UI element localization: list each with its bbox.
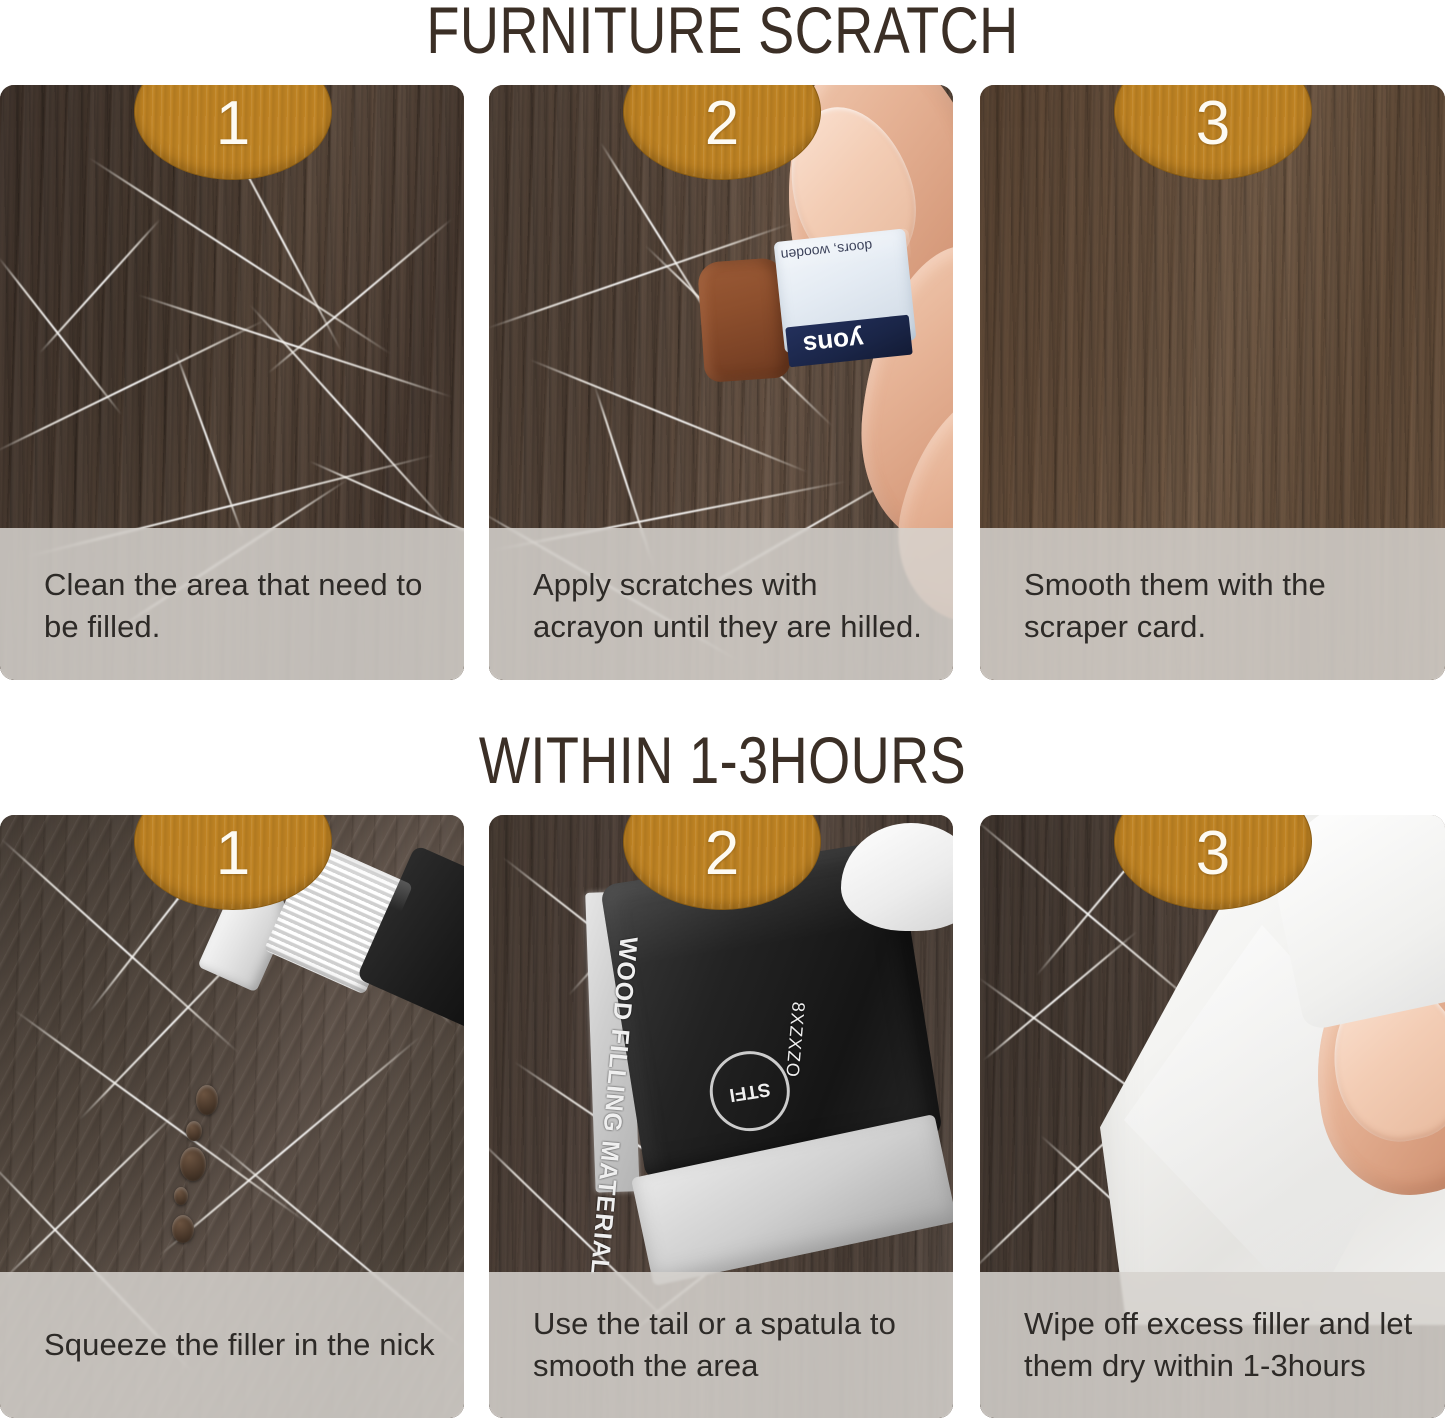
filler-drip	[180, 1147, 206, 1181]
step-panel-2-3: 3 Wipe off excess filler and let them dr…	[980, 815, 1445, 1418]
filler-drip	[174, 1187, 188, 1205]
caption-text: Apply scratches with acrayon until they …	[489, 560, 953, 648]
caption-band-2-3: Wipe off excess filler and let them dry …	[980, 1272, 1445, 1418]
brand-logo-text: STFI	[728, 1077, 772, 1105]
caption-text: Wipe off excess filler and let them dry …	[980, 1303, 1445, 1387]
instruction-sheet: FURNITURE SCRATCH	[0, 0, 1445, 1418]
filler-drip	[172, 1215, 194, 1243]
caption-band-1-3: Smooth them with the scraper card.	[980, 528, 1445, 680]
step-number: 2	[705, 823, 739, 909]
step-number: 2	[705, 93, 739, 179]
caption-band-1-1: Clean the area that need to be filled.	[0, 528, 464, 680]
filler-drip	[196, 1085, 218, 1115]
crayon-label-line-1: doors, wooden	[780, 238, 873, 264]
step-row-furniture-scratch: 1 Clean the area that need to be filled.	[0, 85, 1445, 680]
caption-band-2-2: Use the tail or a spatula to smooth the …	[489, 1272, 953, 1418]
section-title-within-hours: WITHIN 1-3HOURS	[130, 722, 1315, 798]
filler-drip	[186, 1121, 202, 1141]
section-title-furniture-scratch: FURNITURE SCRATCH	[130, 0, 1315, 68]
step-panel-1-2: doors, wooden yons 2 Apply scratches wit…	[489, 85, 953, 680]
step-panel-1-3: 3 Smooth them with the scraper card.	[980, 85, 1445, 680]
crayon-label-line-2: yons	[802, 324, 866, 361]
caption-text: Squeeze the filler in the nick	[0, 1324, 455, 1366]
step-number: 3	[1196, 823, 1230, 909]
step-panel-1-1: 1 Clean the area that need to be filled.	[0, 85, 464, 680]
caption-text: Clean the area that need to be filled.	[0, 560, 464, 648]
step-number: 1	[216, 823, 250, 909]
step-number: 1	[216, 93, 250, 179]
caption-band-2-1: Squeeze the filler in the nick	[0, 1272, 464, 1418]
caption-text: Smooth them with the scraper card.	[980, 560, 1445, 648]
step-panel-2-2: WOOD FILLING MATERIAL 8XZXZO STFI 2 Use …	[489, 815, 953, 1418]
step-panel-2-1: 1 Squeeze the filler in the nick	[0, 815, 464, 1418]
caption-text: Use the tail or a spatula to smooth the …	[489, 1303, 953, 1387]
caption-band-1-2: Apply scratches with acrayon until they …	[489, 528, 953, 680]
tube-label-code: 8XZXZO	[781, 1001, 809, 1079]
step-row-within-hours: 1 Squeeze the filler in the nick	[0, 815, 1445, 1418]
step-number: 3	[1196, 93, 1230, 179]
